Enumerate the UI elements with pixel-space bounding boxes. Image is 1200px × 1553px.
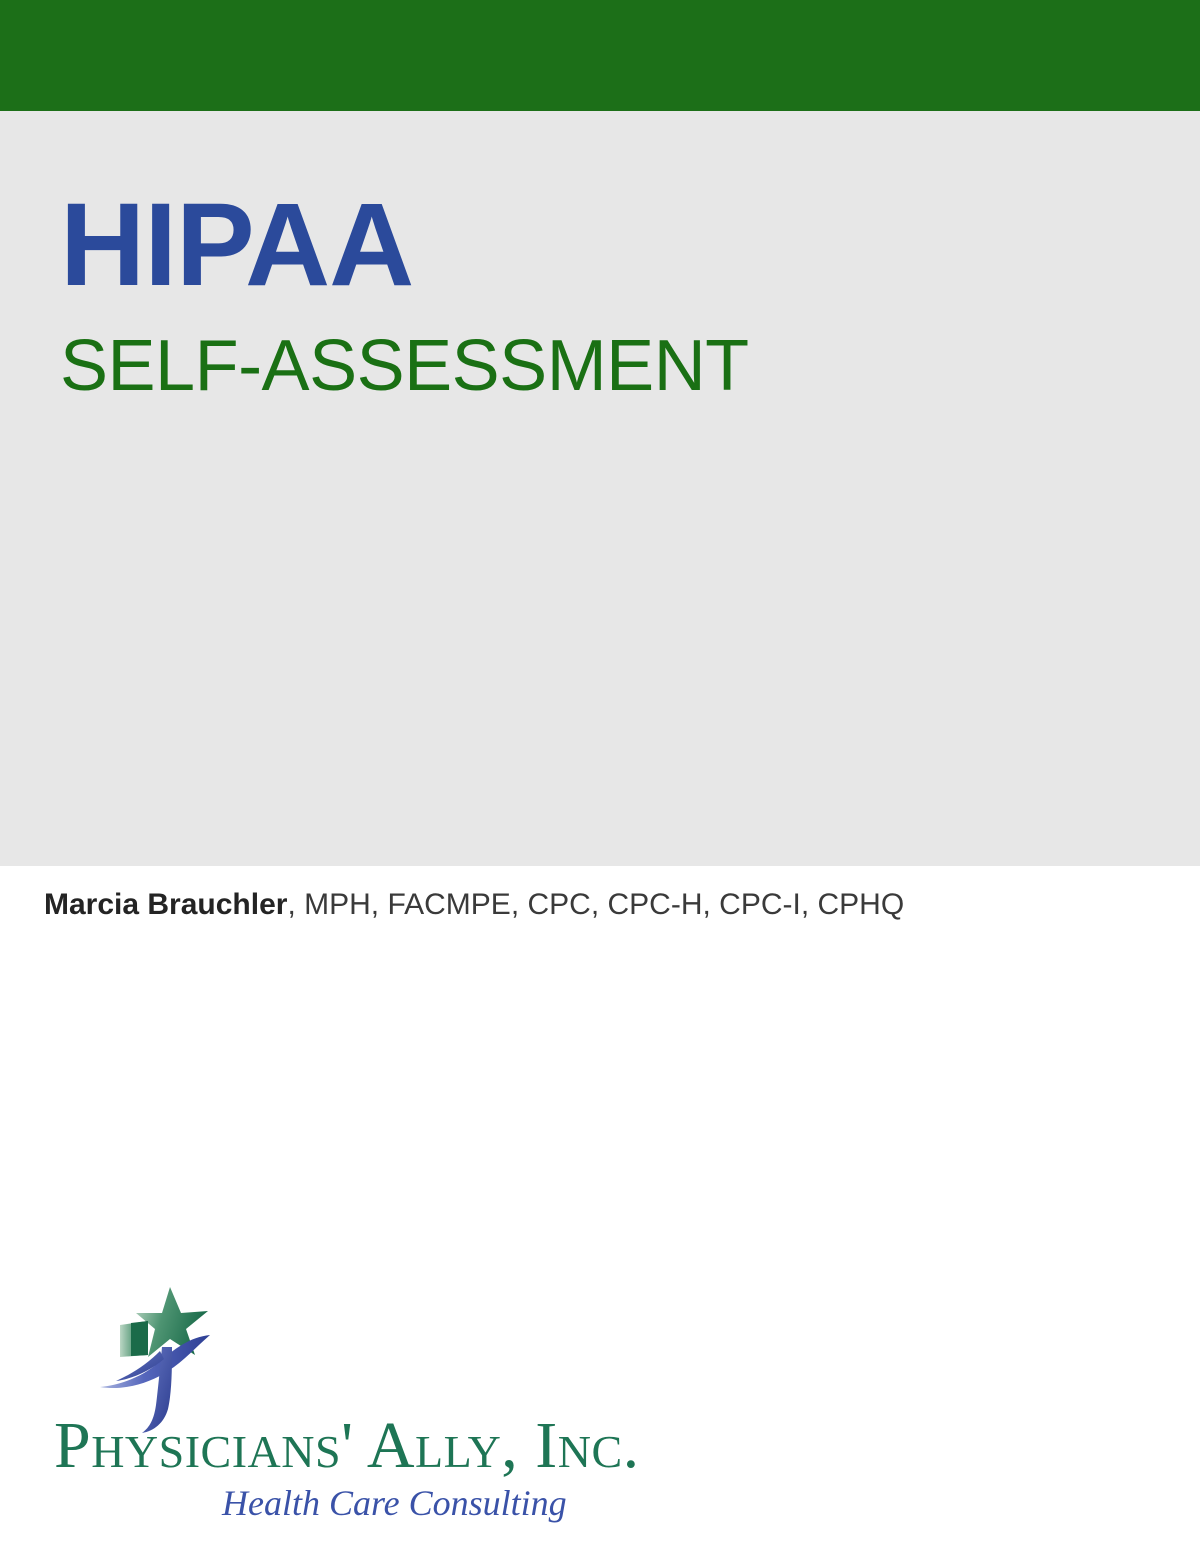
logo-wordmark: Physicians' Ally, Inc. — [54, 1413, 640, 1479]
page-title: HIPAA — [60, 186, 413, 304]
company-logo: Physicians' Ally, Inc. Health Care Consu… — [40, 1285, 720, 1535]
author-credentials: , MPH, FACMPE, CPC, CPC-H, CPC-I, CPHQ — [287, 888, 904, 921]
top-green-banner — [0, 0, 1200, 111]
author-name: Marcia Brauchler — [44, 888, 287, 921]
logo-tagline: Health Care Consulting — [222, 1485, 567, 1521]
author-byline: Marcia Brauchler, MPH, FACMPE, CPC, CPC-… — [44, 888, 904, 922]
page-subtitle: SELF-ASSESSMENT — [60, 330, 749, 402]
